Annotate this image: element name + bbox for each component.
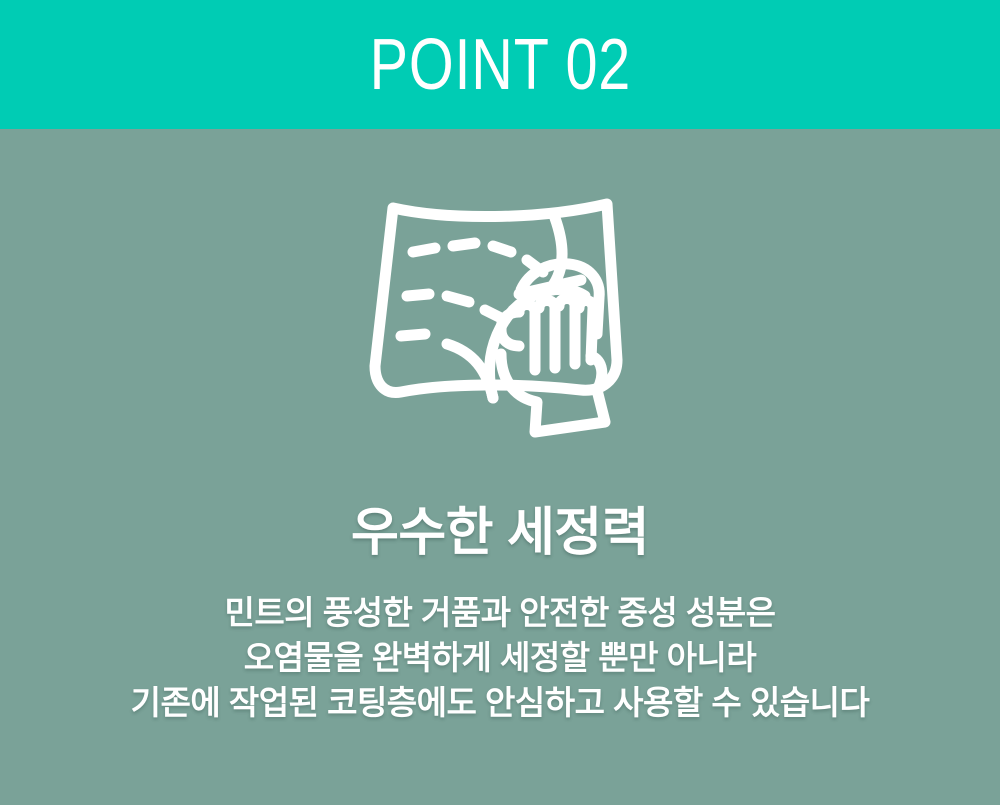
thumb: [501, 312, 519, 346]
hand-wiping-cloth-icon-graphic: [369, 184, 631, 446]
wipe-dash-2b: [447, 296, 469, 302]
finger-2: [539, 301, 555, 369]
finger-3: [559, 299, 575, 365]
description-line-1: 민트의 풍성한 거품과 안전한 중성 성분은: [0, 590, 1000, 635]
wipe-dash-1b: [453, 243, 475, 246]
headline: 우수한 세정력: [0, 504, 1000, 564]
wipe-dash-3a: [401, 334, 425, 336]
description-line-3: 기존에 작업된 코팅층에도 안심하고 사용할 수 있습니다: [0, 680, 1000, 725]
point-card: POINT 02: [0, 0, 1000, 805]
content-area: 우수한 세정력 민트의 풍성한 거품과 안전한 중성 성분은 오염물을 완벽하게…: [0, 129, 1000, 805]
hand-wiping-cloth-icon: [0, 184, 1000, 454]
wipe-dash-1c: [493, 246, 511, 252]
cloth-fold-edge: [551, 218, 562, 288]
wipe-dash-2a: [407, 294, 429, 296]
description: 민트의 풍성한 거품과 안전한 중성 성분은 오염물을 완벽하게 세정할 뿐만 …: [0, 590, 1000, 725]
page-title: POINT 02: [369, 29, 630, 101]
wipe-dash-1a: [413, 248, 435, 252]
description-line-2: 오염물을 완벽하게 세정할 뿐만 아니라: [0, 635, 1000, 680]
header-band: POINT 02: [0, 0, 1000, 129]
